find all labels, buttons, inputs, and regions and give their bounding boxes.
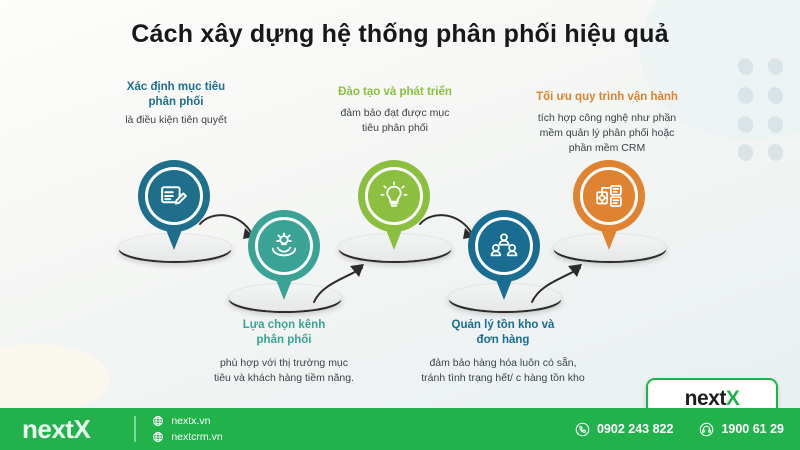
footer-phone-hotline[interactable]: 1900 61 29 bbox=[699, 422, 784, 437]
footer-phone-mobile[interactable]: 0902 243 822 bbox=[575, 422, 673, 437]
step-4-body-line2: tránh tình trạng hết/ c hàng tồn kho bbox=[400, 371, 606, 386]
globe-icon bbox=[152, 431, 164, 443]
step-1-body: là điều kiện tiên quyết bbox=[104, 113, 248, 128]
phone-icon bbox=[575, 422, 590, 437]
lightbulb-icon bbox=[374, 176, 414, 216]
footer-bar: nextX nextx.vn bbox=[0, 408, 800, 450]
step-4-heading-line1: Quản lý tồn kho và bbox=[400, 318, 606, 333]
step-5-body-line1: tích hợp công nghệ như phần bbox=[510, 111, 704, 126]
logo-badge-text-dark: next bbox=[685, 387, 726, 410]
hands-idea-icon bbox=[264, 226, 304, 266]
document-pencil-icon bbox=[154, 176, 194, 216]
step-5-body-line3: phần mềm CRM bbox=[510, 141, 704, 156]
footer-divider bbox=[134, 416, 136, 442]
step-pin-5[interactable] bbox=[573, 160, 645, 252]
page-title: Cách xây dựng hệ thống phân phối hiệu qu… bbox=[0, 20, 800, 49]
step-2-body-line1: phù hợp với thị trường mục bbox=[196, 356, 372, 371]
footer-link-nextcrm[interactable]: nextcrm.vn bbox=[152, 431, 222, 443]
footer-phone-number-1: 0902 243 822 bbox=[597, 422, 673, 436]
step-3-body-line1: đảm bảo đạt được mục bbox=[312, 106, 478, 121]
step-text-4: Quản lý tồn kho và đơn hàng đảm bảo hàng… bbox=[400, 318, 606, 386]
footer-link-nextx[interactable]: nextx.vn bbox=[152, 415, 222, 427]
process-gear-icon bbox=[589, 176, 629, 216]
step-text-2: Lựa chọn kênh phân phối phù hợp với thị … bbox=[196, 318, 372, 386]
step-pin-2[interactable] bbox=[248, 210, 320, 302]
step-1-heading-line2: phân phối bbox=[104, 95, 248, 110]
step-3-body-line2: tiêu phân phối bbox=[312, 121, 478, 136]
step-2-heading-line2: phân phối bbox=[196, 333, 372, 348]
step-pin-3[interactable] bbox=[358, 160, 430, 252]
footer-brand: nextX bbox=[22, 414, 90, 445]
footer-phones: 0902 243 822 1900 61 29 bbox=[575, 422, 784, 437]
step-3-heading-line1: Đào tạo và phát triển bbox=[312, 85, 478, 100]
footer-phone-number-2: 1900 61 29 bbox=[721, 422, 784, 436]
logo-badge-text-green: X bbox=[726, 387, 740, 410]
step-text-1: Xác định mục tiêu phân phối là điều kiện… bbox=[104, 80, 248, 128]
step-4-heading-line2: đơn hàng bbox=[400, 333, 606, 348]
footer-link-label-1: nextx.vn bbox=[171, 415, 210, 427]
footer-link-label-2: nextcrm.vn bbox=[171, 431, 222, 443]
step-pin-4[interactable] bbox=[468, 210, 540, 302]
step-text-3: Đào tạo và phát triển đảm bảo đạt được m… bbox=[312, 85, 478, 136]
step-5-heading-line1: Tối ưu quy trình vận hành bbox=[510, 90, 704, 105]
step-pin-1[interactable] bbox=[138, 160, 210, 252]
step-2-body-line2: tiêu và khách hàng tiềm năng. bbox=[196, 371, 372, 386]
step-text-5: Tối ưu quy trình vận hành tích hợp công … bbox=[510, 90, 704, 156]
step-2-heading-line1: Lựa chọn kênh bbox=[196, 318, 372, 333]
step-5-body-line2: mềm quản lý phân phối hoặc bbox=[510, 126, 704, 141]
decorative-dots-pattern bbox=[738, 58, 792, 168]
step-4-body-line1: đảm bảo hàng hóa luôn có sẵn, bbox=[400, 356, 606, 371]
step-1-heading-line1: Xác định mục tiêu bbox=[104, 80, 248, 95]
globe-icon bbox=[152, 415, 164, 427]
infographic-canvas: Cách xây dựng hệ thống phân phối hiệu qu… bbox=[0, 0, 800, 450]
team-group-icon bbox=[484, 226, 524, 266]
hotline-icon bbox=[699, 422, 714, 437]
footer-links: nextx.vn nextcrm.vn bbox=[152, 415, 222, 443]
decorative-blob-bottom-left bbox=[0, 344, 110, 414]
